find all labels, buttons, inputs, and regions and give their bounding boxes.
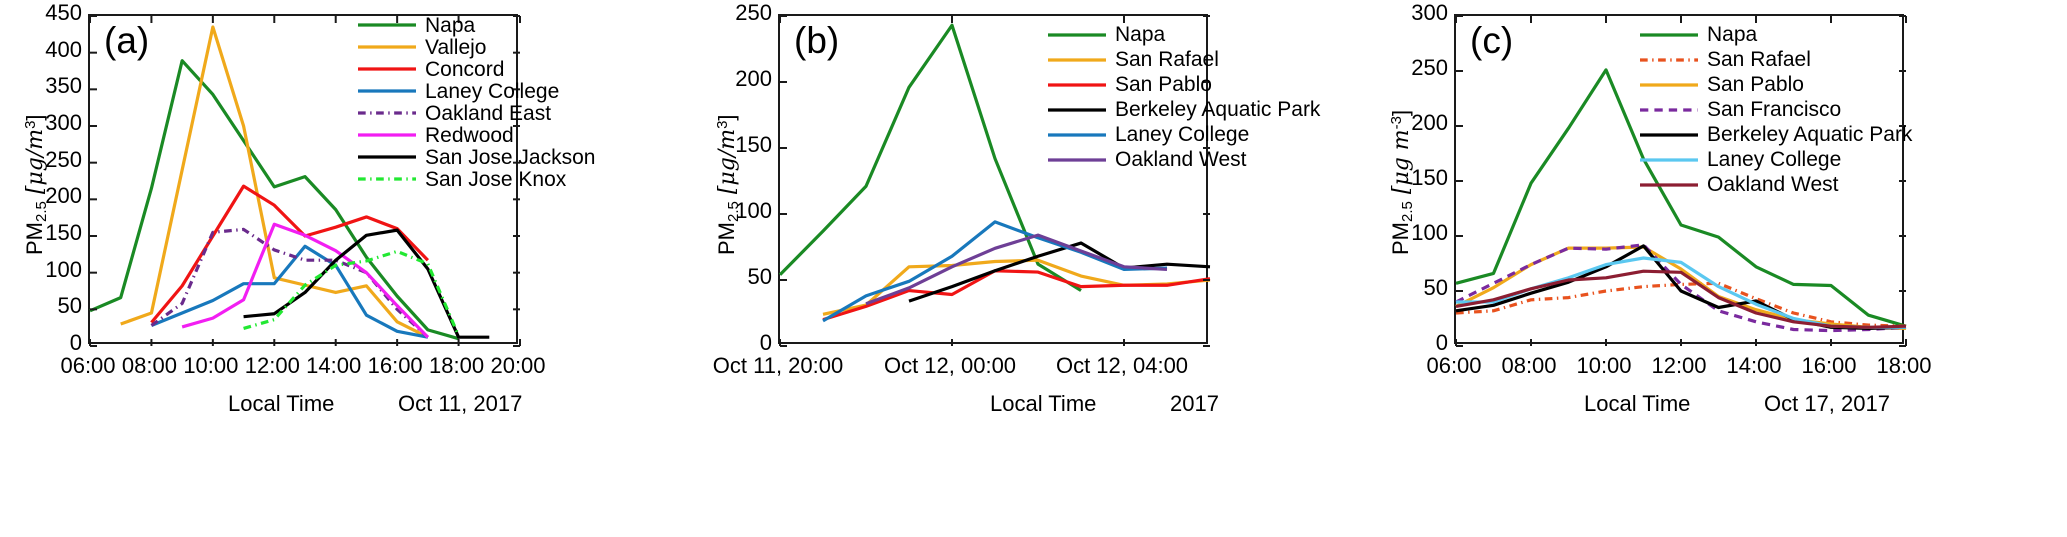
x-tick-label: Oct 11, 20:00 — [683, 353, 873, 379]
legend-line-swatch — [358, 126, 416, 144]
y-tick-label: 100 — [712, 198, 772, 224]
series-line — [182, 224, 428, 337]
legend-a: NapaVallejoConcordLaney CollegeOakland E… — [358, 14, 595, 190]
legend-item[interactable]: Vallejo — [358, 36, 595, 58]
y-axis-label-sup-b: 3 — [714, 121, 731, 129]
legend-label: Berkeley Aquatic Park — [1115, 99, 1320, 120]
legend-item[interactable]: San Jose Knox — [358, 168, 595, 190]
legend-label: Napa — [425, 15, 475, 36]
legend-item[interactable]: Concord — [358, 58, 595, 80]
legend-line-swatch — [1640, 101, 1698, 119]
legend-item[interactable]: Laney College — [358, 80, 595, 102]
panel-a: (a) PM2.5 [μg/m3] 0501001502002503003504… — [0, 0, 700, 537]
legend-label: San Rafael — [1115, 49, 1219, 70]
legend-line-swatch — [1048, 26, 1106, 44]
legend-line-swatch — [358, 104, 416, 122]
legend-line-swatch — [358, 170, 416, 188]
y-tick-label: 300 — [22, 110, 82, 136]
pm25-figure: (a) PM2.5 [μg/m3] 0501001502002503003504… — [0, 0, 2067, 537]
x-tick-label: Oct 12, 00:00 — [855, 353, 1045, 379]
legend-line-swatch — [1640, 126, 1698, 144]
legend-label: Oakland East — [425, 103, 551, 124]
legend-item[interactable]: Berkeley Aquatic Park — [1048, 97, 1320, 122]
legend-line-swatch — [1640, 151, 1698, 169]
legend-line-swatch — [1048, 101, 1106, 119]
legend-label: San Rafael — [1707, 49, 1811, 70]
y-tick-label: 250 — [712, 0, 772, 26]
legend-item[interactable]: San Rafael — [1048, 47, 1320, 72]
legend-line-swatch — [358, 148, 416, 166]
panel-b: (b) PM2.5 [μg/m3] 050100150200250 Oct 11… — [700, 0, 1372, 537]
x-axis-title-c: Local Time — [1584, 391, 1690, 417]
series-line — [1456, 247, 1906, 328]
legend-line-swatch — [1048, 151, 1106, 169]
legend-line-swatch — [358, 60, 416, 78]
x-axis-date-c: Oct 17, 2017 — [1764, 391, 1890, 417]
x-tick-label: Oct 12, 04:00 — [1027, 353, 1217, 379]
y-tick-label: 150 — [1388, 165, 1448, 191]
legend-item[interactable]: San Francisco — [1640, 97, 1912, 122]
legend-label: San Francisco — [1707, 99, 1841, 120]
legend-c: NapaSan RafaelSan PabloSan FranciscoBerk… — [1640, 22, 1912, 197]
legend-item[interactable]: San Rafael — [1640, 47, 1912, 72]
legend-item[interactable]: Napa — [1048, 22, 1320, 47]
legend-label: Concord — [425, 59, 504, 80]
y-tick-label: 250 — [1388, 55, 1448, 81]
y-tick-label: 200 — [712, 66, 772, 92]
legend-label: Oakland West — [1707, 174, 1839, 195]
legend-item[interactable]: Berkeley Aquatic Park — [1640, 122, 1912, 147]
series-line — [1456, 245, 1906, 331]
legend-line-swatch — [1640, 176, 1698, 194]
legend-line-swatch — [358, 82, 416, 100]
legend-item[interactable]: San Jose Jackson — [358, 146, 595, 168]
legend-item[interactable]: Napa — [1640, 22, 1912, 47]
legend-line-swatch — [1048, 126, 1106, 144]
legend-line-swatch — [1640, 76, 1698, 94]
y-tick-label: 100 — [22, 257, 82, 283]
legend-line-swatch — [1640, 51, 1698, 69]
legend-label: Oakland West — [1115, 149, 1247, 170]
legend-label: Redwood — [425, 125, 514, 146]
legend-line-swatch — [1048, 76, 1106, 94]
legend-item[interactable]: San Pablo — [1640, 72, 1912, 97]
legend-line-swatch — [1048, 51, 1106, 69]
legend-label: Vallejo — [425, 37, 486, 58]
legend-label: Laney College — [1115, 124, 1249, 145]
series-line — [823, 271, 1210, 320]
y-tick-label: 450 — [22, 0, 82, 26]
legend-label: San Jose Jackson — [425, 147, 595, 168]
legend-label: Napa — [1707, 24, 1757, 45]
y-tick-label: 350 — [22, 73, 82, 99]
legend-item[interactable]: Oakland West — [1048, 147, 1320, 172]
series-line — [1456, 271, 1906, 327]
y-tick-label: 250 — [22, 147, 82, 173]
y-tick-label: 50 — [1388, 275, 1448, 301]
legend-item[interactable]: Oakland East — [358, 102, 595, 124]
x-axis-title-b: Local Time — [990, 391, 1096, 417]
legend-label: Laney College — [425, 81, 559, 102]
y-axis-label-text-b: PM — [714, 222, 739, 255]
panel-label-b: (b) — [794, 22, 839, 59]
panel-label-a: (a) — [104, 22, 149, 59]
legend-label: San Pablo — [1707, 74, 1804, 95]
y-tick-label: 50 — [712, 264, 772, 290]
series-line — [1456, 246, 1906, 329]
x-tick-label: 20:00 — [423, 353, 613, 379]
legend-line-swatch — [358, 16, 416, 34]
legend-label: San Jose Knox — [425, 169, 566, 190]
y-tick-label: 200 — [1388, 110, 1448, 136]
y-tick-label: 400 — [22, 37, 82, 63]
x-axis-date-b: 2017 — [1170, 391, 1219, 417]
panel-c: (c) PM2.5 [μg m-3] 050100150200250300 06… — [1372, 0, 2067, 537]
x-axis-title-a: Local Time — [228, 391, 334, 417]
legend-item[interactable]: Oakland West — [1640, 172, 1912, 197]
legend-item[interactable]: Redwood — [358, 124, 595, 146]
legend-label: Berkeley Aquatic Park — [1707, 124, 1912, 145]
legend-b: NapaSan RafaelSan PabloBerkeley Aquatic … — [1048, 22, 1320, 172]
x-tick-label: 18:00 — [1809, 353, 1999, 379]
y-tick-label: 300 — [1388, 0, 1448, 26]
legend-item[interactable]: Laney College — [1640, 147, 1912, 172]
y-tick-label: 50 — [22, 293, 82, 319]
legend-label: San Pablo — [1115, 74, 1212, 95]
y-tick-label: 150 — [22, 220, 82, 246]
legend-item[interactable]: Napa — [358, 14, 595, 36]
legend-label: Napa — [1115, 24, 1165, 45]
legend-line-swatch — [358, 38, 416, 56]
y-tick-label: 100 — [1388, 220, 1448, 246]
y-tick-label: 200 — [22, 183, 82, 209]
x-axis-date-a: Oct 11, 2017 — [398, 391, 522, 417]
y-axis-label-suffix-b: ] — [714, 114, 739, 120]
panel-label-c: (c) — [1470, 22, 1513, 59]
legend-item[interactable]: San Pablo — [1048, 72, 1320, 97]
series-line — [780, 25, 1081, 290]
y-tick-label: 150 — [712, 132, 772, 158]
legend-line-swatch — [1640, 26, 1698, 44]
legend-label: Laney College — [1707, 149, 1841, 170]
y-axis-label-sub-c: 2.5 — [1399, 201, 1416, 222]
series-line — [244, 251, 459, 335]
legend-item[interactable]: Laney College — [1048, 122, 1320, 147]
